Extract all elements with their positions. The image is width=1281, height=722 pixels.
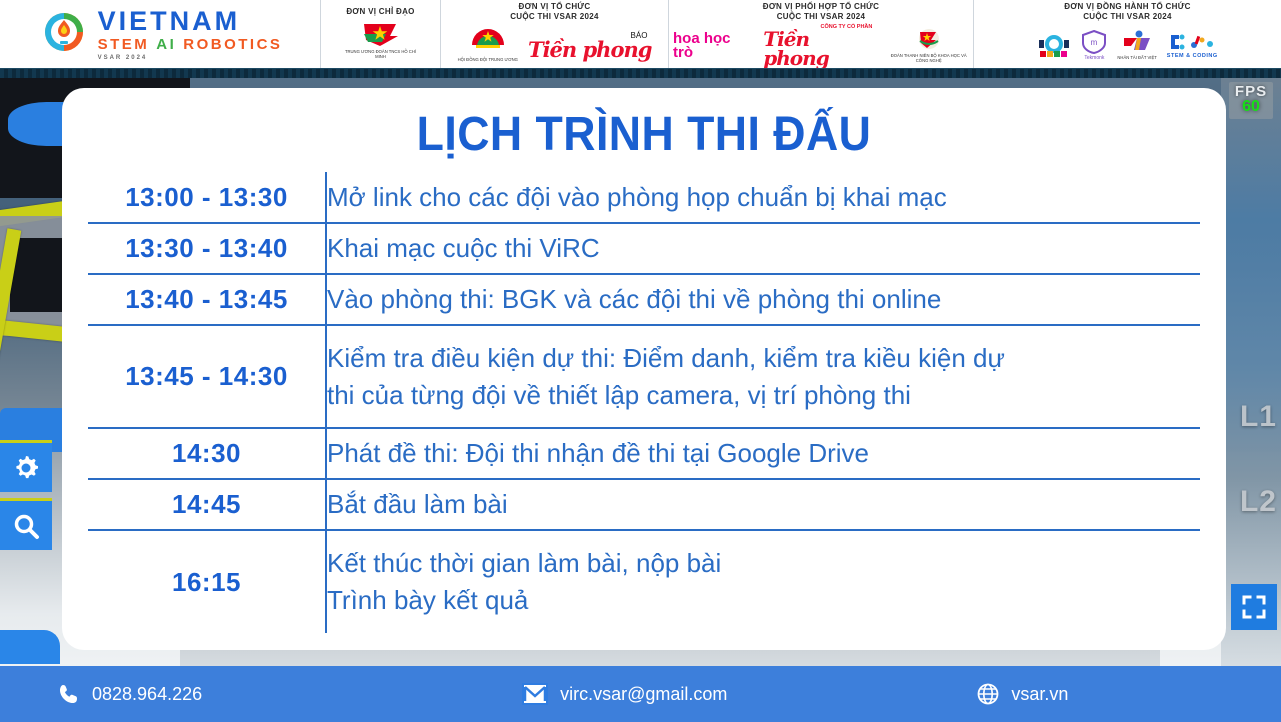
footer-email-text: virc.vsar@gmail.com — [560, 684, 727, 705]
lane-label-l2: L2 — [1240, 485, 1277, 519]
row-description: Phát đề thi: Đội thi nhận đề thi tại Goo… — [326, 428, 1200, 479]
footer-phone-text: 0828.964.226 — [92, 684, 202, 705]
page-title: LỊCH TRÌNH THI ĐẤU — [103, 110, 1186, 160]
row-time: 13:40 - 13:45 — [88, 274, 326, 325]
hoi-dong-doi-trung-uong-logo-icon: HỘI ĐỒNG ĐỘI TRUNG ƯƠNG — [458, 28, 518, 62]
row-description: Khai mạc cuộc thi ViRC — [326, 223, 1200, 274]
magnifier-icon[interactable] — [0, 498, 52, 550]
svg-text:m: m — [1091, 38, 1098, 47]
footer-website-text: vsar.vn — [1011, 684, 1068, 705]
kidsa-logo-icon — [1037, 34, 1071, 58]
sponsor-caption: ĐƠN VỊ CHỈ ĐẠO — [346, 7, 414, 17]
sponsor-group-chi-dao: ĐƠN VỊ CHỈ ĐẠO TRUNG ƯƠNG ĐOÀN TNCS HỒ C… — [320, 0, 440, 68]
row-time: 13:45 - 14:30 — [88, 325, 326, 428]
left-bottom-tab[interactable] — [0, 630, 60, 664]
fullscreen-expand-icon[interactable] — [1231, 584, 1277, 630]
schedule-table: 13:00 - 13:30 Mở link cho các đội vào ph… — [88, 172, 1200, 633]
hoa-hoc-tro-wordmark: hoa học trò — [673, 32, 753, 59]
desc-line: Mở link cho các đội vào phòng họp chuẩn … — [327, 179, 1200, 216]
row-description: Kiểm tra điều kiện dự thi: Điểm danh, ki… — [326, 325, 1200, 428]
gear-flame-logo-icon — [38, 8, 90, 60]
tekmonk-logo-icon: m Tekmonk — [1081, 30, 1107, 61]
tekmonk-label: Tekmonk — [1084, 55, 1104, 61]
sponsor-caption: ĐƠN VỊ TỔ CHỨC — [519, 2, 591, 12]
table-row: 13:45 - 14:30 Kiểm tra điều kiện dự thi:… — [88, 325, 1200, 428]
nhan-tai-dat-viet-logo-icon: NHÂN TÀI ĐẤT VIỆT — [1117, 30, 1156, 60]
gmail-envelope-icon — [522, 683, 548, 705]
sponsor-group-dong-hanh: ĐƠN VỊ ĐỒNG HÀNH TỔ CHỨC CUỘC THI VSAR 2… — [973, 0, 1281, 68]
schedule-card: LỊCH TRÌNH THI ĐẤU 13:00 - 13:30 Mở link… — [62, 88, 1226, 650]
sponsor-caption-line2: CUỘC THI VSAR 2024 — [1083, 12, 1172, 22]
desc-line: Vào phòng thi: BGK và các đội thi về phò… — [327, 281, 1200, 318]
fps-label: FPS — [1229, 84, 1273, 99]
row-time: 14:45 — [88, 479, 326, 530]
presentation-screen: VIETNAM STEM AI ROBOTICS VSAR 2024 ĐƠN V… — [0, 0, 1281, 722]
brand-name-stem: STEM — [98, 37, 150, 52]
sponsor-sublabel: NHÂN TÀI ĐẤT VIỆT — [1117, 55, 1156, 60]
table-row: 16:15 Kết thúc thời gian làm bài, nộp bà… — [88, 530, 1200, 633]
row-time: 14:30 — [88, 428, 326, 479]
desc-line: Kết thúc thời gian làm bài, nộp bài — [327, 545, 1200, 582]
row-description: Mở link cho các đội vào phòng họp chuẩn … — [326, 172, 1200, 223]
row-description: Vào phòng thi: BGK và các đội thi về phò… — [326, 274, 1200, 325]
lane-label-l1: L1 — [1240, 400, 1277, 434]
sponsor-sublabel: ĐOÀN THANH NIÊN BỘ KHOA HỌC VÀ CÔNG NGHỆ — [888, 53, 969, 63]
row-time: 13:30 - 13:40 — [88, 223, 326, 274]
stem-coding-logo-icon: STEM & CODING — [1167, 32, 1218, 60]
desc-line: thi của từng đội về thiết lập camera, vị… — [327, 377, 1200, 414]
sponsor-caption-line2: CUỘC THI VSAR 2024 — [777, 12, 866, 22]
brand-badge: VSAR 2024 — [98, 55, 283, 61]
phone-icon — [58, 683, 80, 705]
hoa-hoc-tro-logo-icon: hoa học trò — [673, 32, 753, 59]
sponsor-group-phoi-hop: ĐƠN VỊ PHỐI HỢP TỔ CHỨC CUỘC THI VSAR 20… — [668, 0, 973, 68]
brand-logo: VIETNAM STEM AI ROBOTICS VSAR 2024 — [0, 0, 320, 68]
footer-website: vsar.vn — [977, 683, 1068, 705]
contact-footer: 0828.964.226 virc.vsar@gmail.com vsa — [0, 666, 1281, 722]
footer-email: virc.vsar@gmail.com — [522, 683, 727, 705]
table-row: 14:45 Bắt đầu làm bài — [88, 479, 1200, 530]
stem-coding-label: STEM & CODING — [1167, 53, 1218, 60]
table-row: 13:00 - 13:30 Mở link cho các đội vào ph… — [88, 172, 1200, 223]
row-description: Bắt đầu làm bài — [326, 479, 1200, 530]
desc-line: Kiểm tra điều kiện dự thi: Điểm danh, ki… — [327, 340, 1200, 377]
row-time: 16:15 — [88, 530, 326, 633]
desc-line: Bắt đầu làm bài — [327, 486, 1200, 523]
sponsor-header: VIETNAM STEM AI ROBOTICS VSAR 2024 ĐƠN V… — [0, 0, 1281, 68]
desc-line: Trình bày kết quả — [327, 582, 1200, 619]
table-row: 13:30 - 13:40 Khai mạc cuộc thi ViRC — [88, 223, 1200, 274]
row-time: 13:00 - 13:30 — [88, 172, 326, 223]
sponsor-group-to-chuc: ĐƠN VỊ TỔ CHỨC CUỘC THI VSAR 2024 HỘI ĐỒ… — [440, 0, 668, 68]
desc-line: Khai mạc cuộc thi ViRC — [327, 230, 1200, 267]
table-row: 13:40 - 13:45 Vào phòng thi: BGK và các … — [88, 274, 1200, 325]
brand-name-ai: AI — [156, 37, 176, 52]
header-divider-strip — [0, 68, 1281, 78]
table-row: 14:30 Phát đề thi: Đội thi nhận đề thi t… — [88, 428, 1200, 479]
fps-value: 60 — [1229, 99, 1273, 116]
doan-thanh-nien-bo-khcn-logo-icon: ĐOÀN THANH NIÊN BỘ KHOA HỌC VÀ CÔNG NGHỆ — [888, 28, 969, 63]
tien-phong-wordmark: Tiền phong — [528, 40, 651, 59]
sponsor-caption-line2: CUỘC THI VSAR 2024 — [510, 12, 599, 22]
bao-tien-phong-logo-icon: BÁO Tiền phong — [528, 31, 651, 59]
gear-icon[interactable] — [0, 440, 52, 492]
sponsor-sublabel: TRUNG ƯƠNG ĐOÀN TNCS HỒ CHÍ MINH — [340, 49, 422, 59]
brand-name-robotics: ROBOTICS — [183, 37, 282, 52]
fps-counter: FPS 60 — [1229, 82, 1273, 119]
sponsor-caption: ĐƠN VỊ ĐỒNG HÀNH TỔ CHỨC — [1064, 2, 1190, 12]
globe-icon — [977, 683, 999, 705]
sponsor-caption: ĐƠN VỊ PHỐI HỢP TỔ CHỨC — [763, 2, 879, 12]
cong-ty-co-phan-tien-phong-logo-icon: CÔNG TY CỔ PHẦN Tiền phong — [763, 24, 878, 67]
row-description: Kết thúc thời gian làm bài, nộp bài Trìn… — [326, 530, 1200, 633]
brand-name-primary: VIETNAM — [98, 8, 283, 35]
tien-phong-wordmark-2: Tiền phong — [763, 30, 878, 67]
sponsor-sublabel: HỘI ĐỒNG ĐỘI TRUNG ƯƠNG — [458, 57, 518, 62]
trung-uong-doan-logo-icon: TRUNG ƯƠNG ĐOÀN TNCS HỒ CHÍ MINH — [340, 22, 422, 59]
left-tool-panel — [0, 440, 52, 550]
desc-line: Phát đề thi: Đội thi nhận đề thi tại Goo… — [327, 435, 1200, 472]
footer-phone: 0828.964.226 — [58, 683, 202, 705]
